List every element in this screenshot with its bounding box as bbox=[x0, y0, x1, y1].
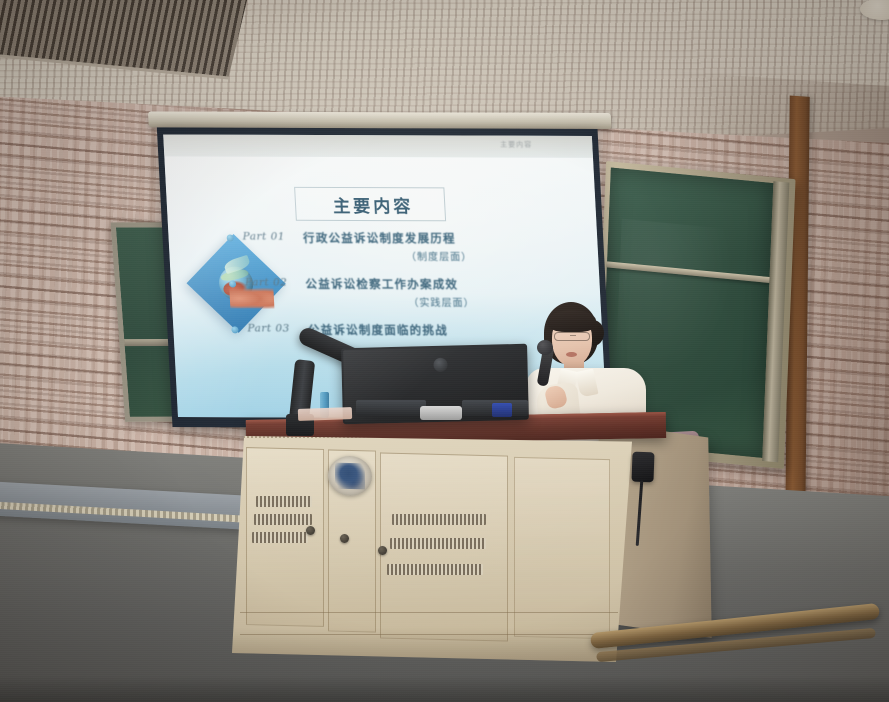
screen-roller-housing bbox=[148, 111, 612, 129]
slide-part-row-1: Part 01 行政公益诉讼制度发展历程 （制度层面） bbox=[242, 229, 574, 264]
slide-header-text: 主要内容 bbox=[500, 140, 533, 150]
podium-lock-left[interactable] bbox=[306, 526, 315, 535]
podium-vent-2 bbox=[254, 514, 312, 525]
part-main-3: 公益诉讼制度面临的挑战 bbox=[308, 323, 449, 337]
papers-on-desk bbox=[298, 407, 352, 421]
floor-vignette bbox=[0, 676, 889, 702]
podium-lock-center[interactable] bbox=[340, 534, 349, 543]
hair-fringe bbox=[548, 310, 596, 332]
wall-telephone[interactable] bbox=[631, 452, 654, 483]
podium-lock-right[interactable] bbox=[378, 546, 387, 555]
part-label-2: Part 02 bbox=[245, 275, 288, 289]
part-bullet-2 bbox=[229, 280, 236, 287]
part-sub-1: （制度层面） bbox=[304, 248, 575, 264]
blue-device-panel bbox=[492, 403, 512, 417]
glasses-icon bbox=[554, 332, 590, 341]
podium-vent-5 bbox=[390, 538, 486, 549]
podium-seam-1 bbox=[240, 612, 618, 613]
podium-vent-4 bbox=[392, 514, 486, 525]
part-bullet-1 bbox=[227, 235, 234, 242]
podium-vent-1 bbox=[256, 496, 312, 507]
mouth bbox=[566, 352, 577, 357]
slide-title: 主要内容 bbox=[302, 191, 444, 217]
podium-vent-3 bbox=[252, 532, 308, 543]
desk-equipment-left bbox=[356, 400, 426, 416]
part-text-1: 行政公益诉讼制度发展历程 （制度层面） bbox=[303, 229, 575, 264]
lecture-hall-photo: 主要内容 主要内容 Part 01 行政公益诉讼制度发展历程 bbox=[0, 0, 889, 702]
microphone-icon bbox=[537, 340, 553, 355]
emblem-mark bbox=[335, 463, 365, 490]
part-label-3: Part 03 bbox=[247, 320, 290, 334]
part-bullet-3 bbox=[231, 326, 238, 333]
university-emblem bbox=[328, 455, 372, 496]
part-main-2: 公益诉讼检察工作办案成效 bbox=[305, 277, 458, 292]
podium-cabinet bbox=[232, 436, 632, 662]
desk-small-device bbox=[420, 406, 462, 420]
podium-vent-6 bbox=[387, 564, 483, 575]
part-label-1: Part 01 bbox=[242, 229, 285, 243]
part-main-1: 行政公益诉讼制度发展历程 bbox=[303, 231, 456, 246]
